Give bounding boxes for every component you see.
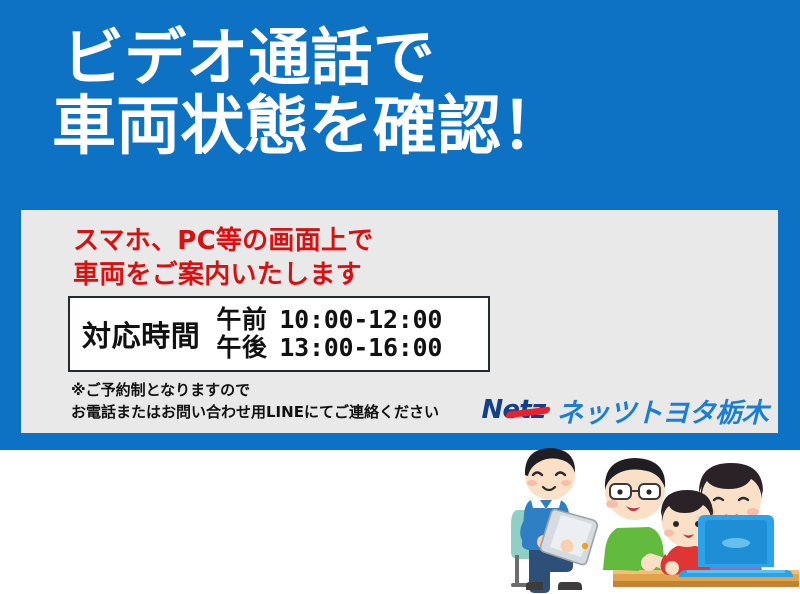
dealer-logo: Netz ネッツトヨタ栃木 <box>479 393 768 427</box>
headline-line-2: 車両状態を確認！ <box>52 95 800 160</box>
hours-period-afternoon: 午後 <box>216 334 267 362</box>
lead-text: スマホ、PC等の画面上で 車両をご案内いたします <box>73 224 373 293</box>
business-hours-rows: 午前 10:00-12:00 午後 13:00-16:00 <box>216 306 442 362</box>
netz-brand-mark: Netz <box>479 395 547 425</box>
headline: ビデオ通話で 車両状態を確認！ <box>0 26 800 161</box>
illustration-graphic <box>509 442 799 594</box>
lead-line-1: スマホ、PC等の画面上で <box>73 224 373 258</box>
headline-line-1: ビデオ通話で <box>62 26 800 89</box>
content-panel: スマホ、PC等の画面上で 車両をご案内いたします 対応時間 午前 10:00-1… <box>21 210 778 433</box>
hours-time-afternoon: 13:00-16:00 <box>279 334 442 362</box>
business-hours-row-morning: 午前 10:00-12:00 <box>216 306 442 334</box>
father-figure <box>603 458 668 571</box>
hours-period-morning: 午前 <box>216 306 267 334</box>
lead-line-2: 車両をご案内いたします <box>73 258 373 292</box>
staff-and-family-illustration <box>509 442 799 594</box>
sales-staff-figure <box>511 448 597 593</box>
hours-time-morning: 10:00-12:00 <box>279 306 442 334</box>
business-hours-box: 対応時間 午前 10:00-12:00 午後 13:00-16:00 <box>68 296 490 372</box>
note-line-1: ※ご予約制となりますので <box>71 380 439 402</box>
business-hours-label: 対応時間 <box>82 313 200 355</box>
note-line-2: お電話またはお問い合わせ用LINEにてご連絡ください <box>71 402 439 424</box>
reservation-note: ※ご予約制となりますので お電話またはお問い合わせ用LINEにてご連絡ください <box>71 380 439 424</box>
promo-banner: ビデオ通話で 車両状態を確認！ スマホ、PC等の画面上で 車両をご案内いたします… <box>0 0 800 450</box>
business-hours-row-afternoon: 午後 13:00-16:00 <box>216 334 442 362</box>
dealer-name-text: ネッツトヨタ栃木 <box>556 391 768 430</box>
